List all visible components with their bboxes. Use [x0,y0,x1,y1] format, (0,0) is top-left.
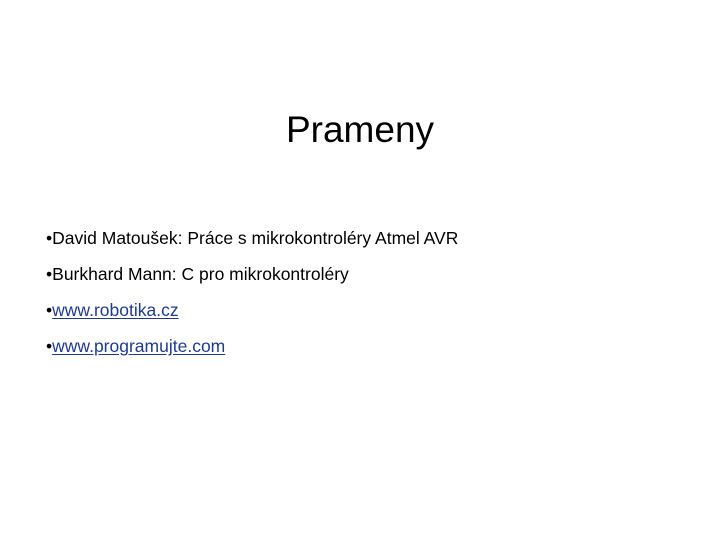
hyperlink-programujte[interactable]: www.programujte.com [52,336,225,356]
list-item: •www.robotika.cz [46,299,686,335]
list-item-label: Burkhard Mann: C pro mikrokontroléry [52,264,349,284]
references-list: •David Matoušek: Práce s mikrokontroléry… [46,227,686,371]
list-item: •www.programujte.com [46,335,686,371]
hyperlink-robotika[interactable]: www.robotika.cz [52,300,178,320]
presentation-slide: Prameny •David Matoušek: Práce s mikroko… [0,0,720,540]
list-item-label: David Matoušek: Práce s mikrokontroléry … [52,228,458,248]
page-title: Prameny [0,108,720,152]
list-item: •Burkhard Mann: C pro mikrokontroléry [46,263,686,299]
list-item: •David Matoušek: Práce s mikrokontroléry… [46,227,686,263]
